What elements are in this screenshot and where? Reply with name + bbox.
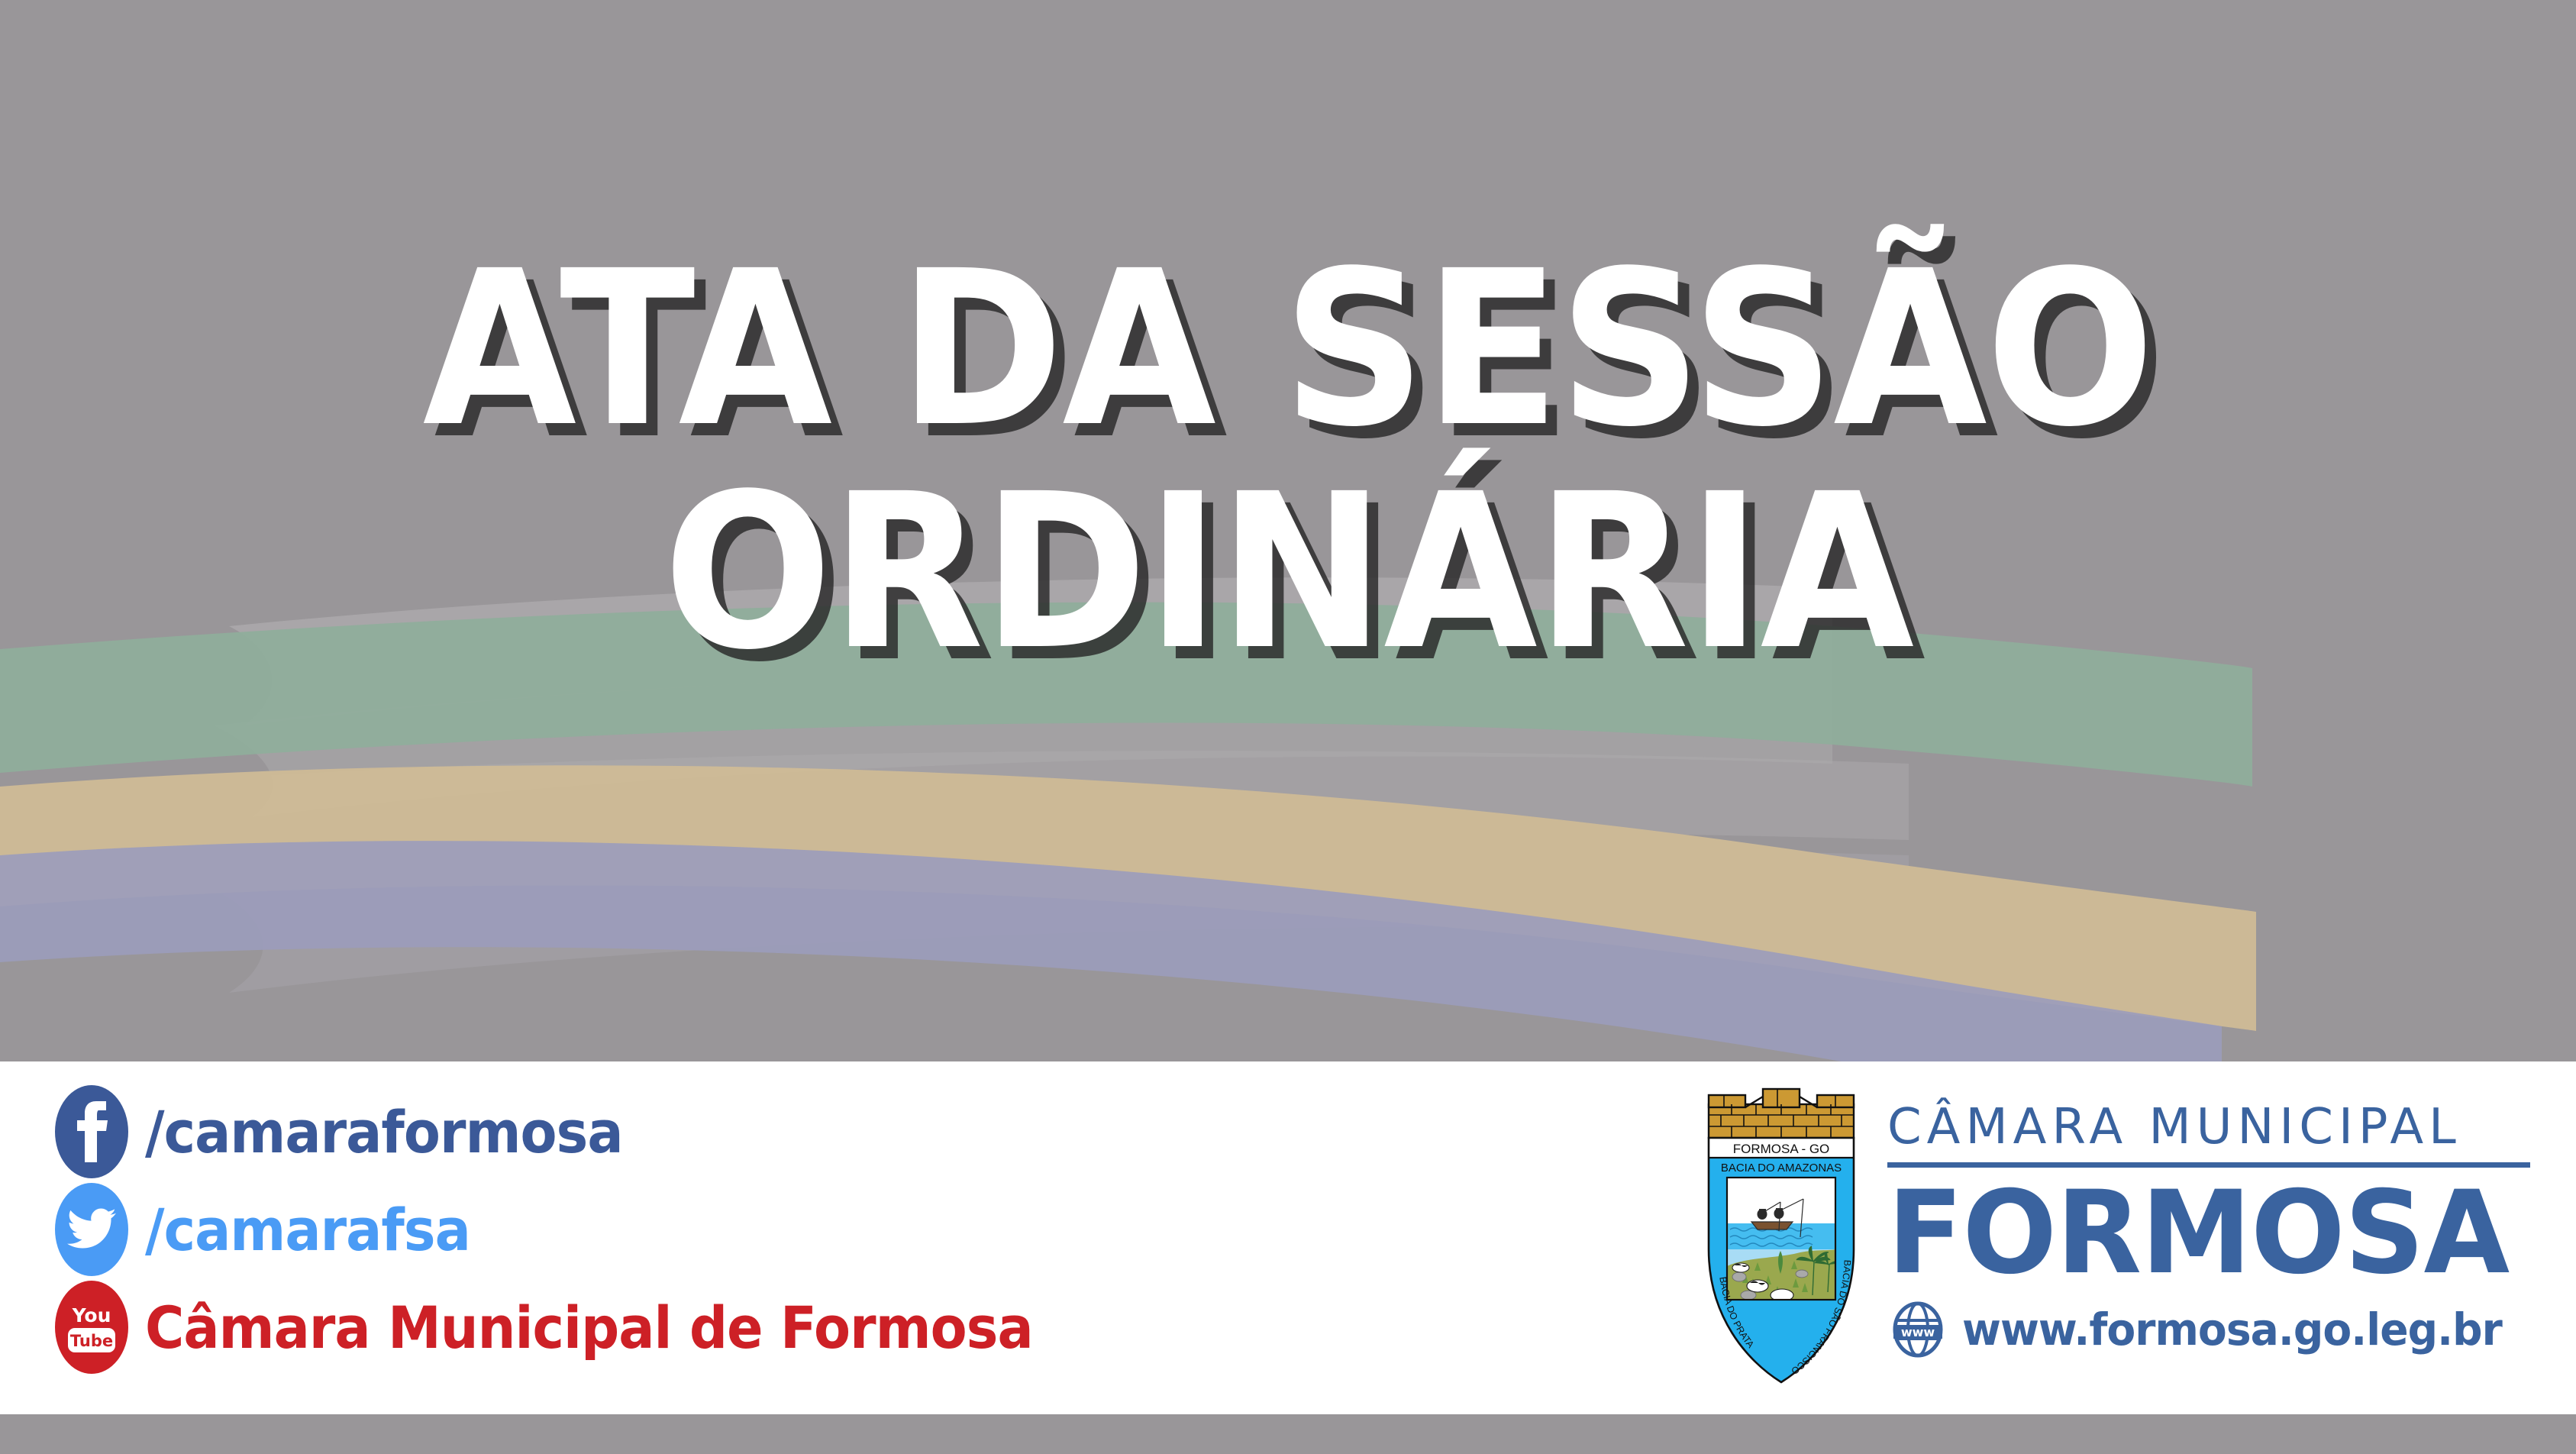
title-line-2: ORDINÁRIA — [90, 475, 2486, 672]
social-row-twitter[interactable]: /camarafsa — [55, 1181, 1110, 1278]
youtube-handle[interactable]: Câmara Municipal de Formosa — [145, 1294, 1033, 1362]
footer-bar: /camaraformosa /camarafsa You Tube — [0, 1061, 2576, 1414]
facebook-f-glyph — [71, 1101, 112, 1162]
title-line-1: ATA DA SESSÃO — [90, 252, 2486, 449]
brand-wordmark: FORMOSA — [1887, 1174, 2511, 1294]
svg-text:You: You — [72, 1304, 111, 1326]
social-row-youtube[interactable]: You Tube Câmara Municipal de Formosa — [55, 1278, 1110, 1376]
brand-camara-municipal: CÂMARA MUNICIPAL — [1887, 1103, 2530, 1152]
brand-lockup: FORMOSA - GO BACIA DO AMAZONAS BACIA DO … — [1701, 1087, 2530, 1393]
wave-ghost-4 — [221, 847, 1909, 993]
facebook-handle[interactable]: /camaraformosa — [145, 1098, 623, 1166]
svg-text:www: www — [1901, 1325, 1935, 1339]
twitter-bird-icon[interactable] — [55, 1183, 128, 1276]
brand-website-url[interactable]: www.formosa.go.leg.br — [1962, 1304, 2502, 1355]
slide-canvas: ATA DA SESSÃO ORDINÁRIA /camaraformosa — [0, 0, 2576, 1454]
social-row-facebook[interactable]: /camaraformosa — [55, 1083, 1110, 1181]
wave-band-periwinkle — [0, 841, 2222, 1069]
twitter-bird-glyph — [67, 1208, 116, 1251]
twitter-handle[interactable]: /camarafsa — [145, 1196, 470, 1264]
wave-ghost-3 — [99, 751, 1909, 882]
brand-website-row[interactable]: www www.formosa.go.leg.br — [1887, 1299, 2530, 1360]
svg-text:Tube: Tube — [70, 1332, 113, 1350]
facebook-icon[interactable] — [55, 1085, 128, 1178]
www-globe-icon: www — [1887, 1299, 1948, 1360]
social-links-list: /camaraformosa /camarafsa You Tube — [55, 1083, 1110, 1376]
formosa-coat-of-arms: FORMOSA - GO BACIA DO AMAZONAS BACIA DO … — [1701, 1087, 1861, 1393]
crest-battlement — [1709, 1089, 1854, 1138]
youtube-icon[interactable]: You Tube — [55, 1281, 128, 1374]
crest-top-basin: BACIA DO AMAZONAS — [1721, 1162, 1842, 1175]
youtube-glyph: You Tube — [65, 1299, 118, 1355]
wave-band-tan — [0, 765, 2256, 1031]
crest-city-banner: FORMOSA - GO — [1733, 1142, 1830, 1156]
brand-text-block: CÂMARA MUNICIPAL FORMOSA www www.formosa… — [1887, 1087, 2530, 1360]
page-title: ATA DA SESSÃO ORDINÁRIA — [0, 252, 2576, 671]
